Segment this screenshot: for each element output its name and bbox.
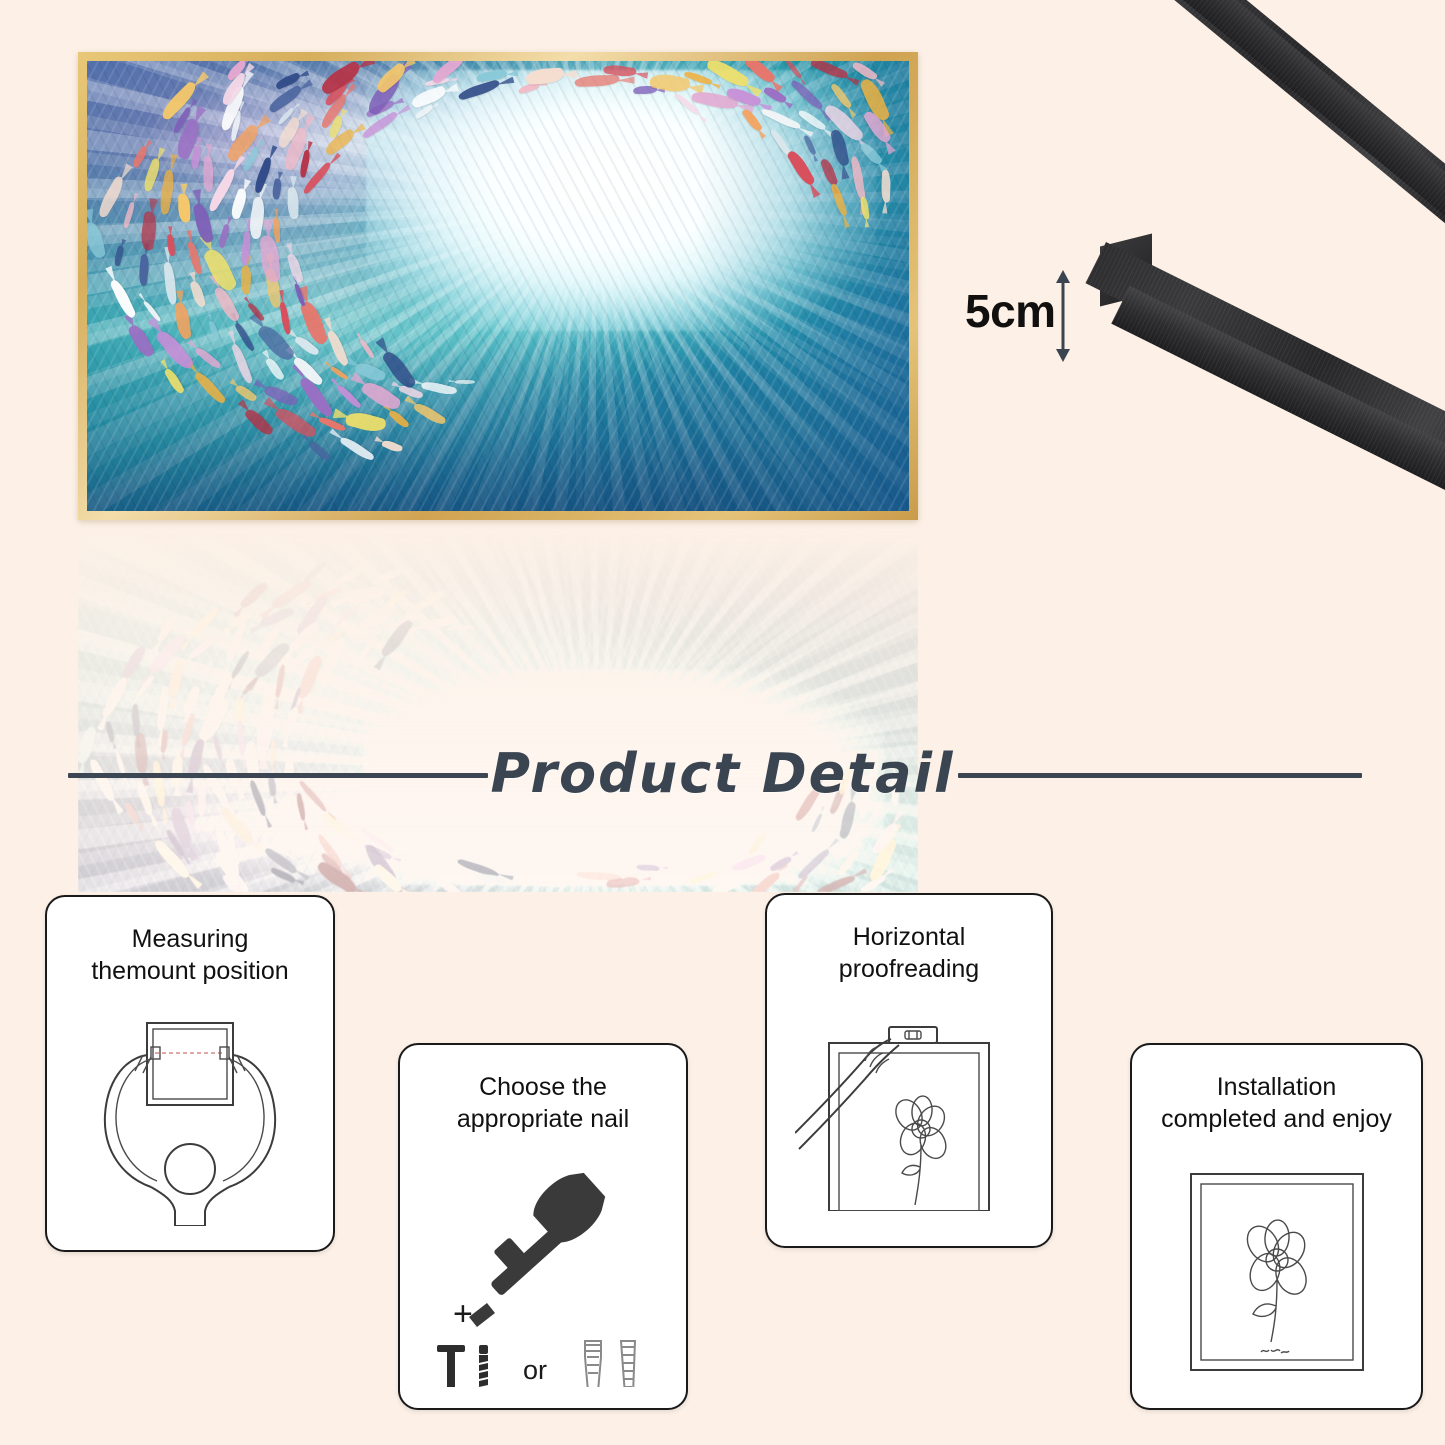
step-card-illustration [767, 985, 1051, 1246]
fish [203, 156, 214, 192]
fish [379, 568, 402, 583]
fish [270, 576, 313, 613]
measurement-label: 5cm [965, 284, 1056, 338]
fish [339, 435, 375, 464]
fish [274, 404, 318, 442]
fish [243, 405, 274, 438]
fish [322, 128, 357, 157]
fish [265, 356, 286, 382]
fish [194, 345, 222, 371]
fish [744, 61, 777, 87]
fish [247, 196, 267, 240]
fish [123, 802, 141, 825]
flower-icon [891, 1095, 951, 1205]
fish [130, 703, 141, 736]
hand-with-spirit-level-on-frame-icon [795, 1021, 1023, 1211]
fish [217, 224, 231, 249]
fish [137, 254, 150, 287]
fish [881, 169, 891, 202]
fish [102, 675, 128, 717]
nail-icon [437, 1345, 465, 1387]
fish [455, 379, 475, 384]
frame-depth-measurement: 5cm [965, 270, 1080, 365]
fish [526, 67, 565, 84]
step-card-measuring[interactable]: Measuring themount position [45, 895, 335, 1252]
or-label: or [523, 1355, 547, 1385]
fish [858, 140, 883, 167]
step-card-title: Installation completed and enjoy [1161, 1071, 1392, 1135]
step-card-illustration [1132, 1135, 1421, 1408]
step-card-illustration: + or [400, 1135, 686, 1408]
fish [381, 438, 404, 454]
fish [342, 583, 385, 607]
fish [109, 277, 136, 319]
fish [319, 811, 354, 839]
fish [283, 706, 298, 738]
fish [228, 188, 249, 221]
fish [188, 605, 220, 641]
fish [95, 175, 127, 219]
signature-mark [1261, 1349, 1289, 1352]
fish [388, 408, 410, 430]
step-card-title: Measuring themount position [91, 923, 288, 987]
fish [412, 588, 446, 614]
fish-artwork-reflection [78, 522, 918, 892]
fish [87, 221, 106, 260]
fish [280, 301, 291, 335]
fish [336, 384, 361, 410]
hand-icon [795, 1039, 899, 1149]
fish [850, 156, 866, 201]
fish [428, 870, 467, 892]
fish [275, 663, 285, 698]
fish [194, 369, 227, 406]
fish [136, 675, 154, 698]
fish [767, 831, 808, 856]
step-card-installation-complete[interactable]: Installation completed and enjoy [1130, 1043, 1423, 1410]
step-card-choose-nail[interactable]: Choose the appropriate nail + [398, 1043, 688, 1410]
fish [131, 145, 150, 168]
fish [706, 61, 751, 91]
fish [336, 559, 372, 587]
fish [168, 659, 183, 698]
fish [323, 636, 345, 676]
black-wood-frame-corner [1060, 0, 1445, 560]
fish-school [78, 522, 918, 892]
fish [454, 626, 474, 630]
fish [809, 61, 848, 82]
product-detail-page: 5cm Product Detail Measuring themount po… [0, 0, 1445, 1445]
fish [164, 261, 177, 305]
fish [527, 873, 567, 887]
fish [121, 201, 136, 229]
fish-school [87, 61, 909, 511]
fish [256, 320, 296, 364]
step-card-horizontal-proofreading[interactable]: Horizontal proofreading [765, 893, 1053, 1248]
hero-framed-painting [78, 52, 918, 520]
fish [190, 280, 207, 309]
light-screw-icon [621, 1341, 635, 1387]
fish [242, 675, 259, 696]
fish [187, 241, 203, 276]
fish [575, 74, 620, 86]
step-card-title: Choose the appropriate nail [457, 1071, 629, 1135]
double-arrow-vertical-icon [1052, 270, 1074, 362]
fish [288, 187, 299, 220]
fish [861, 197, 870, 220]
painting-canvas [87, 61, 909, 511]
fish [326, 329, 349, 368]
hammer-and-nails-icon: + or [425, 1157, 661, 1387]
fish [804, 134, 817, 156]
fish [333, 603, 358, 629]
fish [158, 687, 169, 732]
fish [287, 252, 304, 284]
spirit-level-icon [889, 1027, 937, 1043]
fish [104, 721, 116, 743]
fish [208, 320, 220, 341]
fish [271, 178, 283, 200]
fish [139, 210, 159, 250]
fish [345, 409, 387, 435]
plus-symbol: + [453, 1295, 473, 1333]
fish [239, 265, 252, 294]
fish [413, 401, 447, 429]
fish [164, 367, 185, 396]
fish [359, 377, 402, 414]
wall-plug-icon [585, 1341, 601, 1387]
fish [359, 338, 374, 359]
fish [157, 169, 176, 216]
fish [429, 61, 469, 85]
fish [267, 84, 304, 113]
fish [178, 194, 190, 223]
section-title: Product Detail [0, 742, 1445, 805]
fish [797, 847, 831, 882]
fish-artwork [87, 61, 909, 511]
step-card-title: Horizontal proofreading [839, 921, 979, 985]
fish [786, 61, 802, 79]
fish [112, 245, 125, 267]
fish [790, 77, 825, 113]
screw-icon [479, 1345, 488, 1387]
fish [202, 660, 213, 681]
fish [761, 106, 802, 132]
fish [184, 686, 199, 715]
person-holding-frame-measuring-icon [85, 1011, 295, 1226]
fish [820, 157, 839, 186]
fish [830, 183, 848, 218]
fish [174, 302, 191, 340]
fish [750, 869, 782, 892]
fish [141, 157, 163, 192]
hung-framed-flower-picture-icon [1181, 1166, 1373, 1378]
fish [457, 79, 501, 101]
fish [307, 439, 331, 463]
fish [816, 873, 855, 892]
fish [239, 580, 269, 612]
flower-icon [1241, 1219, 1312, 1342]
fish [274, 217, 281, 243]
fish [357, 645, 372, 666]
fish [769, 854, 793, 874]
fish [120, 643, 146, 680]
painting-reflection [78, 522, 918, 892]
fish [127, 322, 155, 359]
step-card-illustration [47, 987, 333, 1250]
